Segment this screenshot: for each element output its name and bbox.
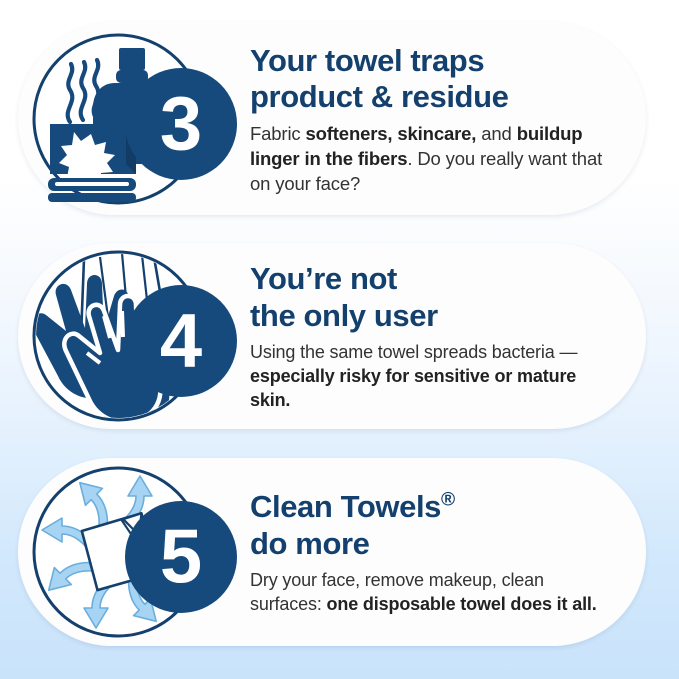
text-block: Your towel trapsproduct & residue Fabric… (250, 41, 646, 196)
infographic-root: 3 Your towel trapsproduct & residue Fabr… (0, 0, 679, 679)
icon-block: 4 (18, 243, 250, 429)
headline-line-2: product & residue (250, 79, 508, 114)
detergent-bottle-and-stained-towel-icon: 3 (22, 26, 250, 212)
towel-with-radiating-arrows-icon: 5 (22, 459, 250, 645)
number-badge-label: 3 (160, 81, 202, 166)
info-card: 3 Your towel trapsproduct & residue Fabr… (18, 22, 646, 215)
two-hands-sharing-towel-icon: 4 (22, 243, 250, 429)
number-badge-label: 5 (160, 515, 202, 600)
card-headline: Your towel trapsproduct & residue (250, 43, 616, 116)
icon-block: 5 (18, 458, 250, 646)
info-card: 5 Clean Towels®do more Dry your face, re… (18, 458, 646, 646)
card-headline: Clean Towels®do more (250, 489, 616, 562)
headline-line-1: Clean Towels® (250, 489, 455, 524)
info-card: 4 You’re notthe only user Using the same… (18, 243, 646, 429)
registered-trademark-icon: ® (441, 490, 455, 511)
headline-line-2: the only user (250, 298, 438, 333)
card-body: Using the same towel spreads bacteria —e… (250, 341, 616, 413)
card-body: Dry your face, remove makeup, clean surf… (250, 569, 616, 617)
headline-line-2: do more (250, 526, 370, 561)
number-badge-label: 4 (160, 299, 202, 384)
text-block: Clean Towels®do more Dry your face, remo… (250, 487, 646, 616)
headline-line-1: You’re not (250, 261, 397, 296)
icon-block: 3 (18, 22, 250, 215)
card-headline: You’re notthe only user (250, 261, 616, 334)
text-block: You’re notthe only user Using the same t… (250, 259, 646, 412)
card-body: Fabric softeners, skincare, and buildup … (250, 122, 616, 196)
headline-line-1: Your towel traps (250, 43, 484, 78)
